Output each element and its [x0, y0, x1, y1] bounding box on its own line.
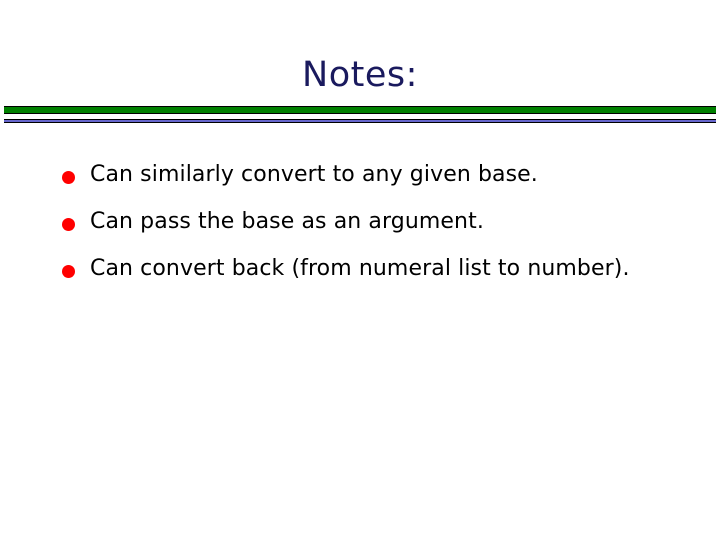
bullet-point-icon: [62, 171, 75, 184]
bullet-point-icon: [62, 265, 75, 278]
bullet-list: Can similarly convert to any given base.…: [60, 160, 660, 301]
list-item-label: Can similarly convert to any given base.: [90, 160, 630, 189]
list-item: Can convert back (from numeral list to n…: [60, 254, 660, 283]
bullet-point-icon: [62, 218, 75, 231]
list-item: Can similarly convert to any given base.: [60, 160, 660, 189]
list-item-label: Can pass the base as an argument.: [90, 207, 630, 236]
list-item-label: Can convert back (from numeral list to n…: [90, 254, 630, 283]
list-item: Can pass the base as an argument.: [60, 207, 660, 236]
presentation-slide: Notes: Can similarly convert to any give…: [0, 0, 720, 540]
page-title: Notes:: [0, 52, 720, 98]
divider-green-band: [4, 106, 716, 114]
title-divider: [4, 106, 716, 126]
divider-blue-line: [4, 119, 716, 123]
